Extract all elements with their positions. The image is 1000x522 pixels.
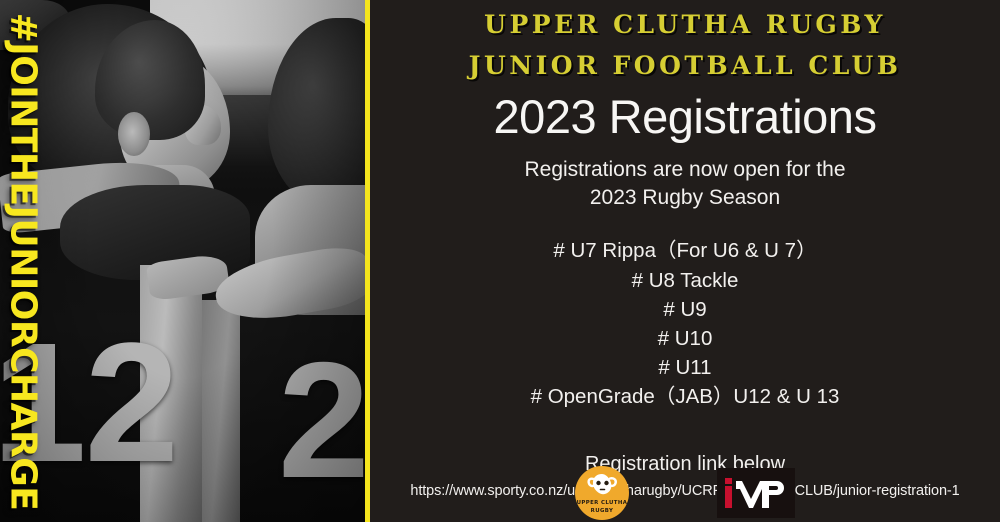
grade-item: # U10	[370, 324, 1000, 353]
imp-letter-i-dot	[725, 478, 732, 484]
grade-item: # U9	[370, 295, 1000, 324]
club-name-line-2: JUNIOR FOOTBALL CLUB	[370, 39, 1000, 80]
badge-arc-text-1: UPPER CLUTHA	[575, 501, 629, 506]
badge-arc-text-2: RUGBY	[575, 509, 629, 514]
imp-sponsor-logo	[717, 468, 795, 518]
photo-vignette	[0, 0, 365, 522]
subheading-line-2: 2023 Rugby Season	[370, 184, 1000, 212]
content-panel: UPPER CLUTHA RUGBY JUNIOR FOOTBALL CLUB …	[370, 0, 1000, 522]
grade-item: # U8 Tackle	[370, 266, 1000, 295]
grade-item: # OpenGrade（JAB）U12 & U 13	[370, 382, 1000, 411]
imp-letter-i-stem	[725, 486, 732, 508]
subheading: Registrations are now open for the 2023 …	[370, 156, 1000, 211]
grade-item: # U11	[370, 353, 1000, 382]
club-name-line-1: UPPER CLUTHA RUGBY	[370, 0, 1000, 39]
rugby-players-photo: 12 2	[0, 0, 365, 522]
ram-head-icon	[586, 472, 619, 500]
grade-item: # U7 Rippa（For U6 & U 7）	[370, 236, 1000, 265]
hashtag-banner: #JOINTHEJUNIORCHARGE	[0, 0, 46, 522]
page-title: 2023 Registrations	[370, 89, 1000, 144]
subheading-line-1: Registrations are now open for the	[370, 156, 1000, 184]
photo-panel: 12 2 #JOINTHEJUNIORCHARGE	[0, 0, 365, 522]
poster-canvas: 12 2 #JOINTHEJUNIORCHARGE UPPER CLUTHA R…	[0, 0, 1000, 522]
grade-list: # U7 Rippa（For U6 & U 7） # U8 Tackle # U…	[370, 236, 1000, 411]
imp-letter-p	[762, 481, 787, 508]
yellow-divider	[365, 0, 370, 522]
hashtag-text: #JOINTHEJUNIORCHARGE	[3, 12, 44, 510]
logo-row: UPPER CLUTHA RUGBY	[370, 466, 1000, 520]
upper-clutha-rugby-badge-icon: UPPER CLUTHA RUGBY	[575, 466, 629, 520]
